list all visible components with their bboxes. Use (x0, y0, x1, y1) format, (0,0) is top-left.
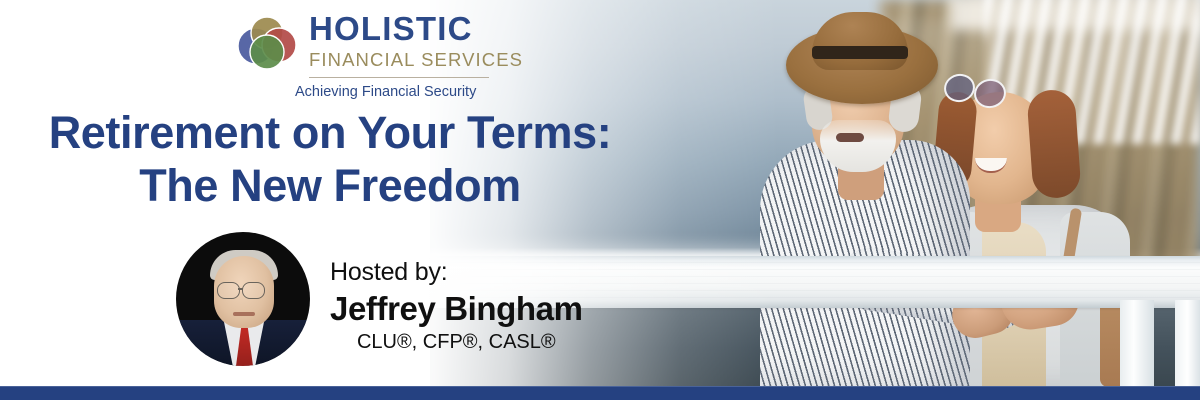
man-mouth (836, 133, 864, 142)
speaker-credentials: CLU®, CFP®, CASL® (330, 329, 583, 355)
logo-name-primary: HOLISTIC (309, 10, 495, 48)
headline-line-1: Retirement on Your Terms: (0, 106, 660, 159)
woman-hair-right (1026, 88, 1081, 199)
headline-line-2: The New Freedom (0, 159, 660, 212)
eyeglasses-bridge-icon (238, 288, 243, 290)
railing-post-1 (1120, 300, 1154, 387)
page-title: Retirement on Your Terms: The New Freedo… (0, 106, 660, 212)
logo-wordmark: HOLISTIC FINANCIAL SERVICES Achieving Fi… (309, 10, 495, 103)
logo-divider (309, 77, 489, 78)
railing-post-2 (1175, 300, 1200, 387)
four-overlapping-circles-logo-icon (237, 16, 297, 72)
logo-name-secondary: FINANCIAL SERVICES (309, 48, 495, 72)
hosted-by-label: Hosted by: (330, 256, 583, 288)
headshot-mouth (233, 312, 255, 316)
avatar (176, 232, 310, 366)
speaker-info: Hosted by: Jeffrey Bingham CLU®, CFP®, C… (330, 256, 583, 355)
speaker-name: Jeffrey Bingham (330, 288, 583, 330)
eyeglasses-left-lens-icon (217, 282, 240, 299)
webinar-banner: HOLISTIC FINANCIAL SERVICES Achieving Fi… (0, 0, 1200, 400)
eyeglasses-right-lens-icon (242, 282, 265, 299)
logo-tagline: Achieving Financial Security (295, 81, 495, 103)
man-hat-band (812, 46, 908, 59)
man-straw-hat-crown (812, 12, 908, 70)
footer-accent-bar (0, 386, 1200, 400)
holistic-financial-services-logo[interactable]: HOLISTIC FINANCIAL SERVICES Achieving Fi… (237, 10, 495, 106)
